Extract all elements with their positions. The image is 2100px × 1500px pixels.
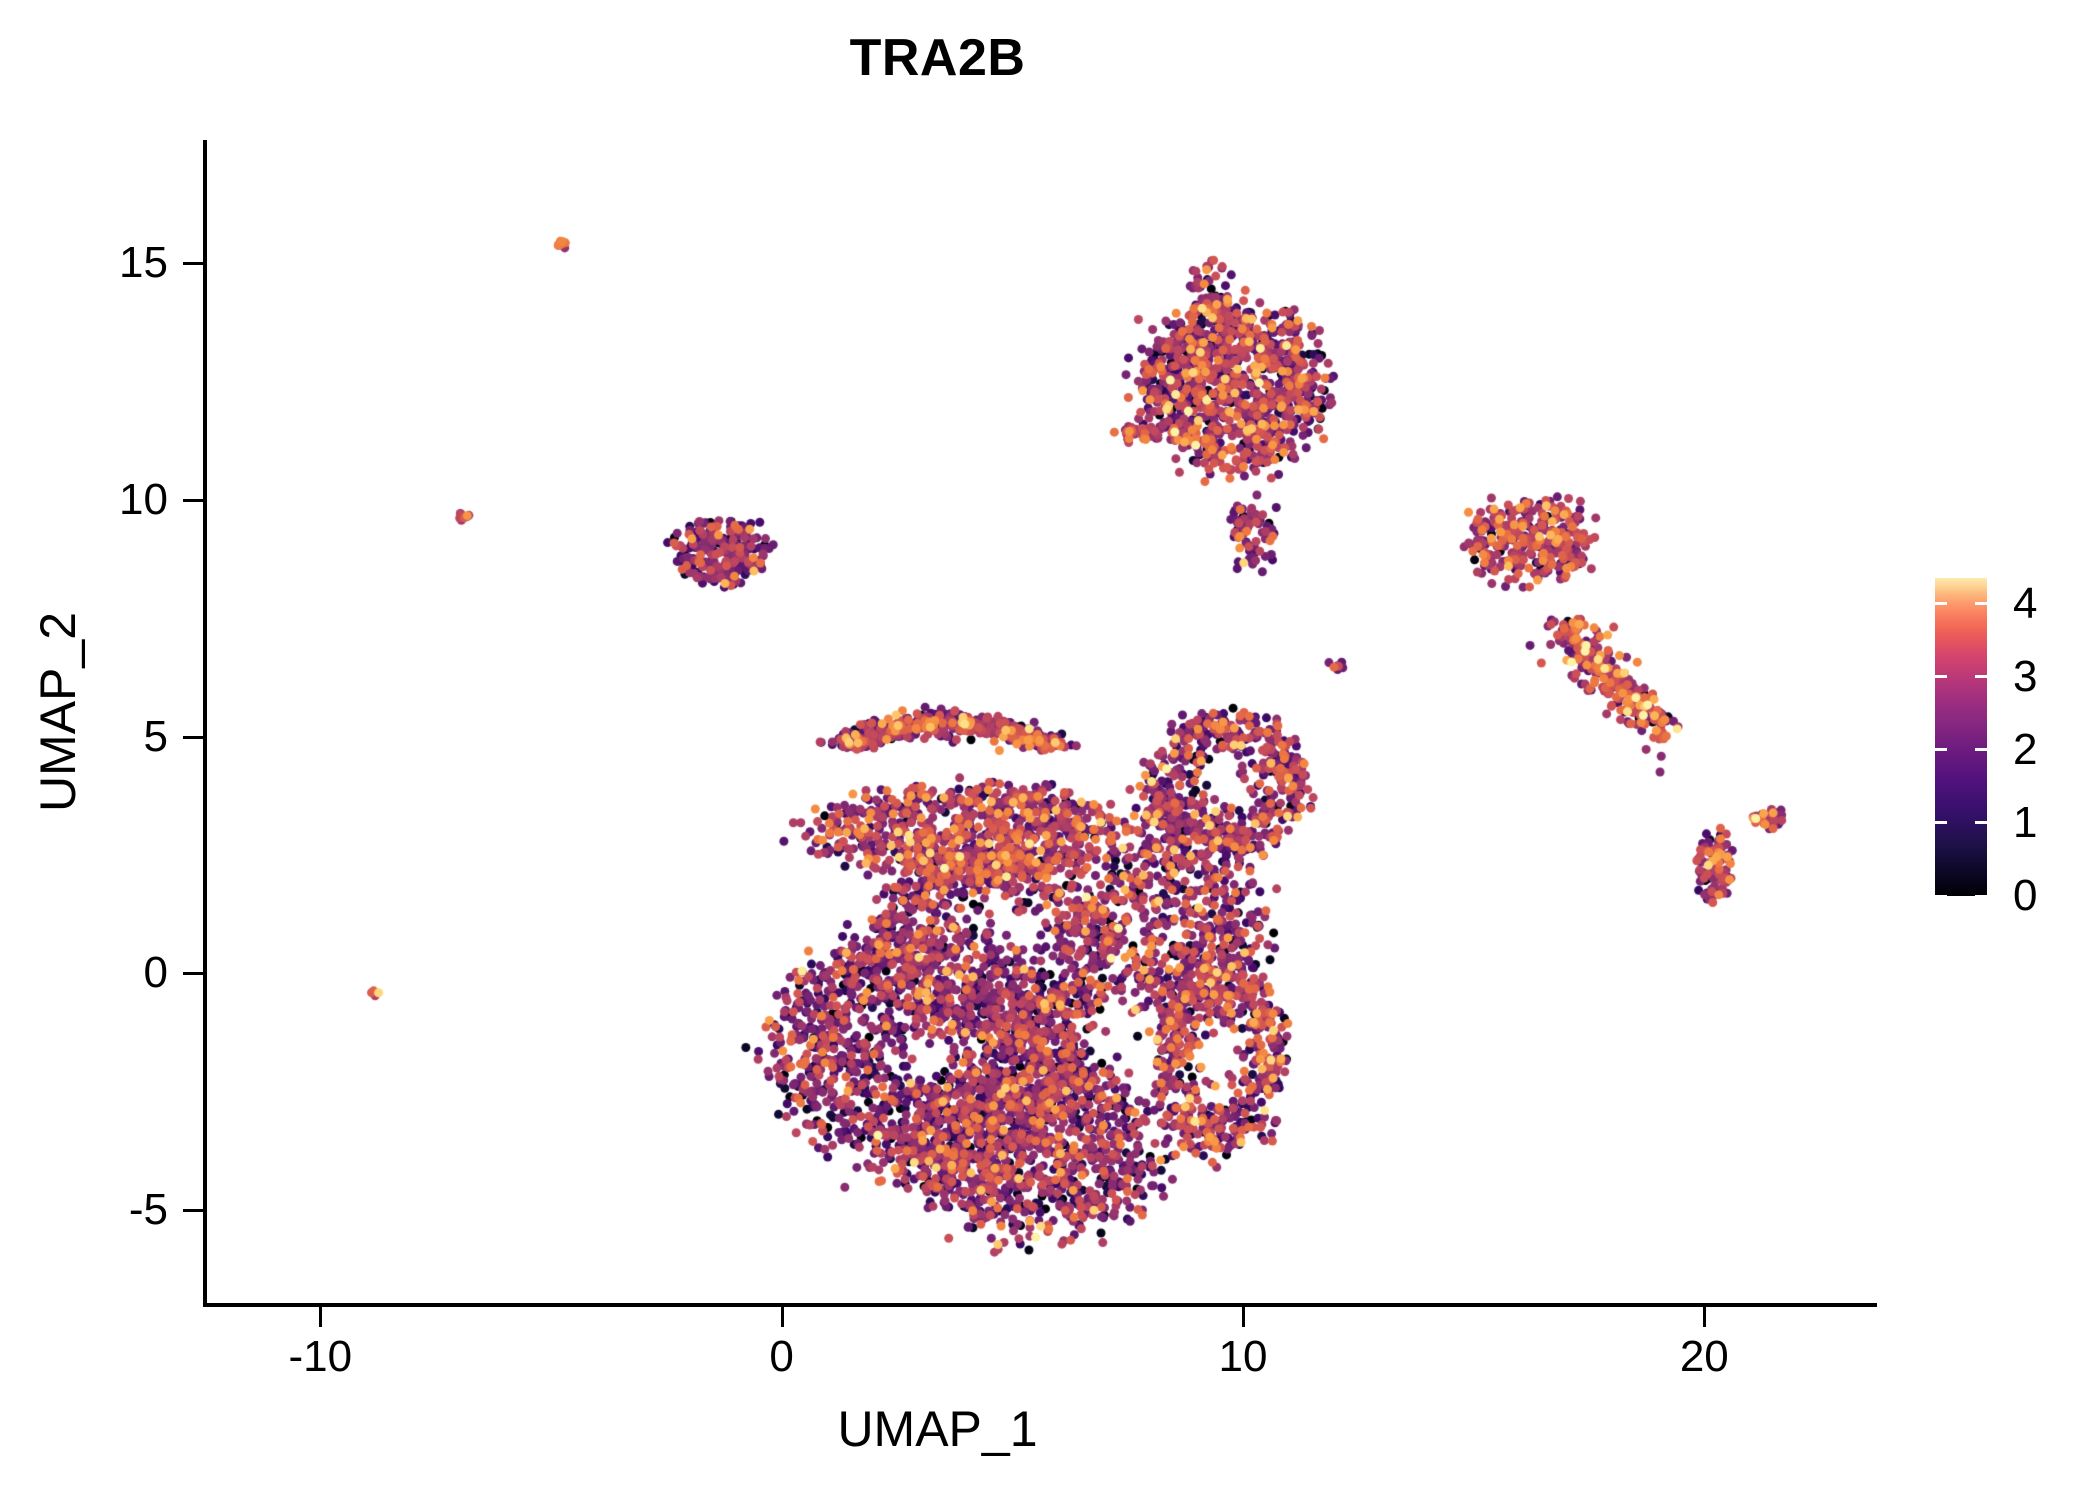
y-tick-mark [183, 262, 203, 265]
colorbar-tick-mark [1975, 895, 1987, 898]
colorbar-tick-label: 0 [2013, 871, 2037, 921]
color-legend: 01234 [1935, 578, 2085, 908]
y-tick-mark [183, 499, 203, 502]
x-tick-label: 0 [769, 1332, 793, 1382]
scatter-points-canvas [205, 140, 1875, 1305]
x-axis-label: UMAP_1 [0, 1400, 1875, 1458]
y-axis-line [203, 140, 207, 1307]
colorbar-tick-mark [1975, 748, 1987, 751]
colorbar-tick-label: 2 [2013, 725, 2037, 775]
colorbar-tick-label: 3 [2013, 652, 2037, 702]
y-tick-label: 10 [119, 475, 168, 525]
colorbar-tick-label: 4 [2013, 579, 2037, 629]
colorbar-tick-label: 1 [2013, 798, 2037, 848]
x-tick-mark [1703, 1307, 1706, 1327]
y-tick-mark [183, 736, 203, 739]
y-tick-label: 0 [144, 948, 168, 998]
colorbar-tick-mark [1935, 748, 1947, 751]
x-axis-line [203, 1303, 1877, 1307]
y-tick-mark [183, 972, 203, 975]
y-tick-mark [183, 1209, 203, 1212]
colorbar-tick-mark [1935, 821, 1947, 824]
y-tick-label: 15 [119, 238, 168, 288]
colorbar-tick-mark [1935, 602, 1947, 605]
y-axis-label: UMAP_2 [29, 362, 87, 1062]
x-tick-label: 20 [1680, 1332, 1729, 1382]
x-tick-label: -10 [289, 1332, 353, 1382]
colorbar-gradient [1935, 578, 1987, 896]
y-tick-label: -5 [129, 1185, 168, 1235]
colorbar-tick-mark [1975, 602, 1987, 605]
x-tick-mark [1242, 1307, 1245, 1327]
umap-feature-plot: TRA2B -5051015 -1001020 UMAP_1 UMAP_2 01… [0, 0, 2100, 1500]
y-tick-label: 5 [144, 712, 168, 762]
plot-panel [205, 140, 1875, 1305]
colorbar-tick-mark [1935, 895, 1947, 898]
page-title: TRA2B [0, 28, 1875, 88]
x-tick-label: 10 [1218, 1332, 1267, 1382]
colorbar-tick-mark [1935, 675, 1947, 678]
colorbar-tick-mark [1975, 675, 1987, 678]
colorbar-tick-mark [1975, 821, 1987, 824]
x-tick-mark [319, 1307, 322, 1327]
x-tick-mark [781, 1307, 784, 1327]
